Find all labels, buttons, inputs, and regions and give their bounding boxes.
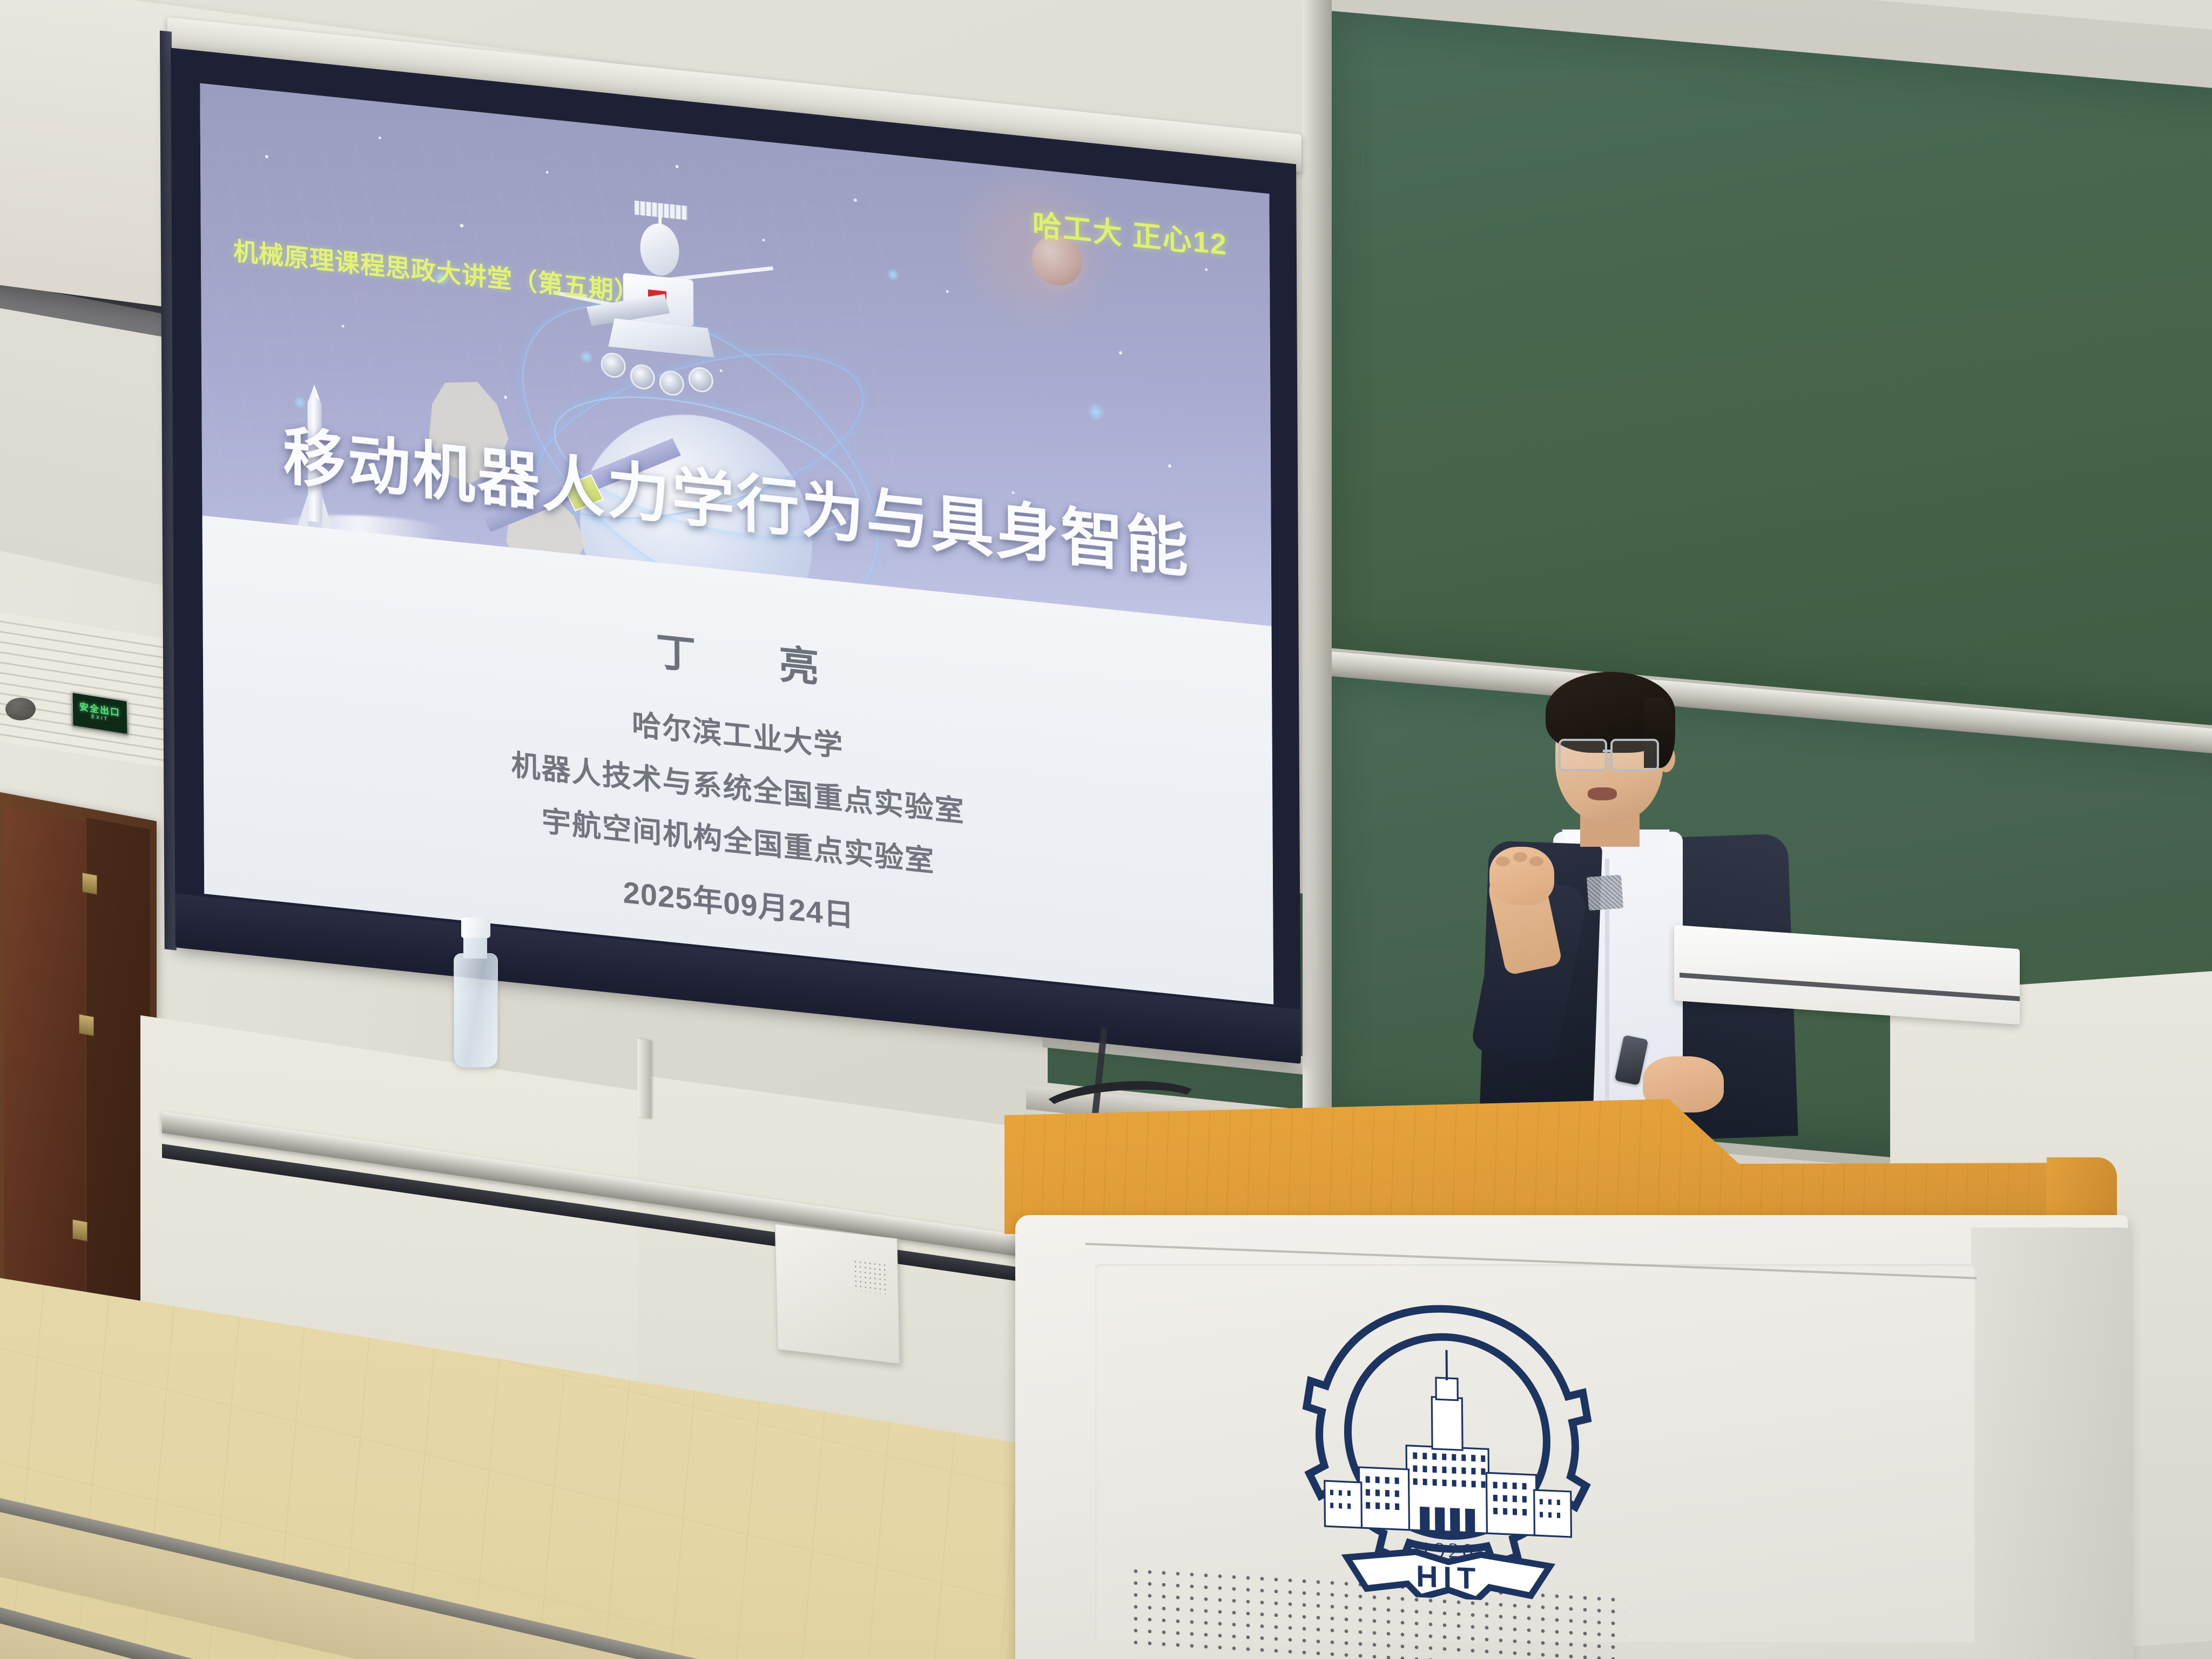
podium-side-edge [1971,1228,2133,1659]
projection-screen[interactable]: 机械原理课程思政大讲堂（第五期） 哈工大 正心12 移动机器人力学行为与具身智能… [178,43,1296,1109]
mars-rover-graphic [571,186,750,442]
exit-sign-face: 安全出口 EXIT [72,693,127,734]
speaker-person [1426,664,1836,1139]
eyeglasses-lens-right [1610,739,1659,771]
mouth [1588,787,1617,800]
door-leaf-left[interactable] [4,806,85,1348]
hit-crest-svg: 1920 HIT [1294,1279,1600,1606]
lectern-podium: 1920 HIT [1004,1099,2212,1659]
eyeglasses-lens-left [1559,739,1607,771]
rover-dish-antenna [640,221,679,277]
door-hinge-top [82,872,97,894]
water-bottle[interactable] [454,953,498,1068]
hit-crest-logo: 1920 HIT [1294,1279,1600,1606]
lecture-hall-photo: 机械原理课程思政大讲堂（第五期） 哈工大 正心12 移动机器人力学行为与具身智能… [0,0,2212,1659]
chalkboard-divider-post [637,1038,651,1119]
door-hinge-mid [79,1014,94,1036]
wall-mounted-panel[interactable] [775,1224,900,1364]
lapel-detail [1587,875,1623,911]
water-bottle-cap [461,918,490,938]
door-hinge-bottom [72,1219,87,1241]
water-bottle-neck [463,935,487,959]
projected-slide: 机械原理课程思政大讲堂（第五期） 哈工大 正心12 移动机器人力学行为与具身智能… [200,83,1273,1004]
chalkboard-surface-upper [1330,11,2212,729]
raised-fist [1489,847,1554,905]
eyeglasses-bridge [1603,750,1613,752]
wall-panel-texture [853,1259,887,1294]
dome-speaker-icon [5,698,36,720]
chalkboard-post [1303,0,1332,1119]
hit-crest-abbr: HIT [1416,1559,1481,1596]
